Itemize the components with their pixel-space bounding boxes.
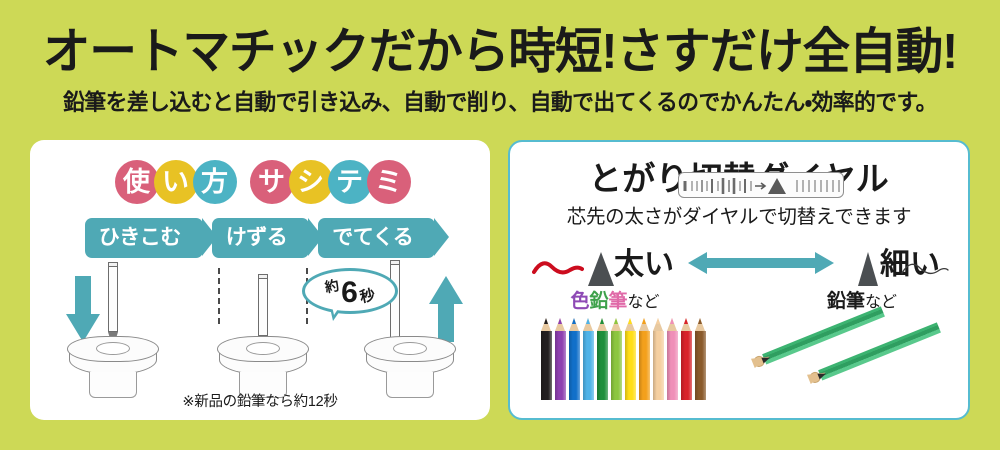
colored-pencil [611, 318, 622, 400]
usage-panel: 使 い 方 サ シ テ ミ ひきこむ けずる でてくる [30, 140, 490, 420]
thickness-scale-row: 太い 細い [510, 246, 968, 292]
double-arrow-icon [688, 252, 834, 274]
graphite-pencils-graphic [750, 314, 960, 406]
pencil-cap [258, 274, 268, 279]
circle-letter: テ [328, 160, 372, 204]
advertisement-banner: オートマチックだから時短!さすだけ全自動! 鉛筆を差し込むと自動で引き込み、自動… [0, 0, 1000, 450]
step-chip-eject: でてくる [318, 218, 435, 258]
circle-letter: シ [289, 160, 333, 204]
caption-part: 色 [570, 291, 589, 312]
circle-letter: い [154, 160, 198, 204]
duration-badge-prefix: 約 [324, 278, 341, 295]
dial-panel: とがり切替ダイヤル 芯先の太さがダイヤルで切替えできます 太い 細い [508, 140, 970, 420]
pencil-cap [108, 262, 118, 267]
illustration-row [30, 258, 490, 398]
circle-word-group-howto: 使 い 方 [115, 160, 232, 204]
duration-badge-suffix: 秒 [358, 287, 376, 305]
duration-badge-number: 6 [341, 278, 358, 308]
page-subtitle: 鉛筆を差し込むと自動で引き込み、自動で削り、自動で出てくるのでかんたん・効率的で… [15, 92, 985, 115]
colored-pencil [597, 318, 608, 400]
colored-pencil [681, 318, 692, 400]
page-title: オートマチックだから時短!さすだけ全自動! [15, 28, 985, 77]
colored-pencil [653, 318, 664, 400]
motion-dash-left [218, 268, 220, 324]
duration-badge: 約 6 秒 [302, 268, 398, 318]
circle-letter: サ [250, 160, 294, 204]
pencil-cap [390, 260, 400, 265]
graphite-pencil-caption: 鉛筆など [762, 292, 962, 311]
colored-pencil [667, 318, 678, 400]
colored-pencil [625, 318, 636, 400]
caption-part: など [628, 294, 660, 311]
pencil-graphic [108, 262, 118, 332]
colored-pencil [639, 318, 650, 400]
circle-letter: 使 [115, 160, 159, 204]
caption-part: 筆 [609, 291, 628, 312]
thin-tip-icon [858, 252, 878, 286]
colored-pencil [541, 318, 552, 400]
colored-pencils-graphic [520, 318, 726, 404]
caption-part: 鉛筆 [827, 291, 865, 312]
pencil-graphic [808, 374, 812, 384]
arrow-up-icon [429, 276, 463, 342]
colored-pencil [583, 318, 594, 400]
colored-pencil-caption: 色鉛筆など [510, 292, 720, 311]
illustration-step-1 [58, 258, 168, 398]
sharpener-graphic [364, 336, 456, 398]
thin-stroke-sample-icon [900, 260, 950, 278]
thick-tip-icon [588, 252, 614, 286]
colored-pencil [569, 318, 580, 400]
colored-pencil [695, 318, 706, 400]
circle-letter: 方 [193, 160, 237, 204]
caption-part: 鉛 [589, 291, 608, 312]
pencil-graphic [258, 274, 268, 336]
arrow-down-icon [66, 276, 100, 342]
step-chip-sharpen: けずる [212, 218, 310, 258]
footnote: ※新品の鉛筆なら約12秒 [30, 390, 490, 411]
step-chip-pull-in: ひきこむ [85, 218, 203, 258]
colored-pencil [555, 318, 566, 400]
circle-word-row: 使 い 方 サ シ テ ミ [30, 158, 490, 206]
pencil-graphic [752, 358, 756, 368]
dial-panel-subtitle: 芯先の太さがダイヤルで切替えできます [510, 208, 968, 228]
circle-letter: ミ [367, 160, 411, 204]
thick-label: 太い [614, 250, 674, 280]
thickness-dial-graphic[interactable] [678, 172, 844, 198]
thick-stroke-sample-icon [532, 258, 584, 278]
sharpener-graphic [217, 336, 309, 398]
circle-word-group-trynow: サ シ テ ミ [250, 160, 406, 204]
step-chip-row: ひきこむ けずる でてくる [30, 216, 490, 260]
sharpener-graphic [67, 336, 159, 398]
